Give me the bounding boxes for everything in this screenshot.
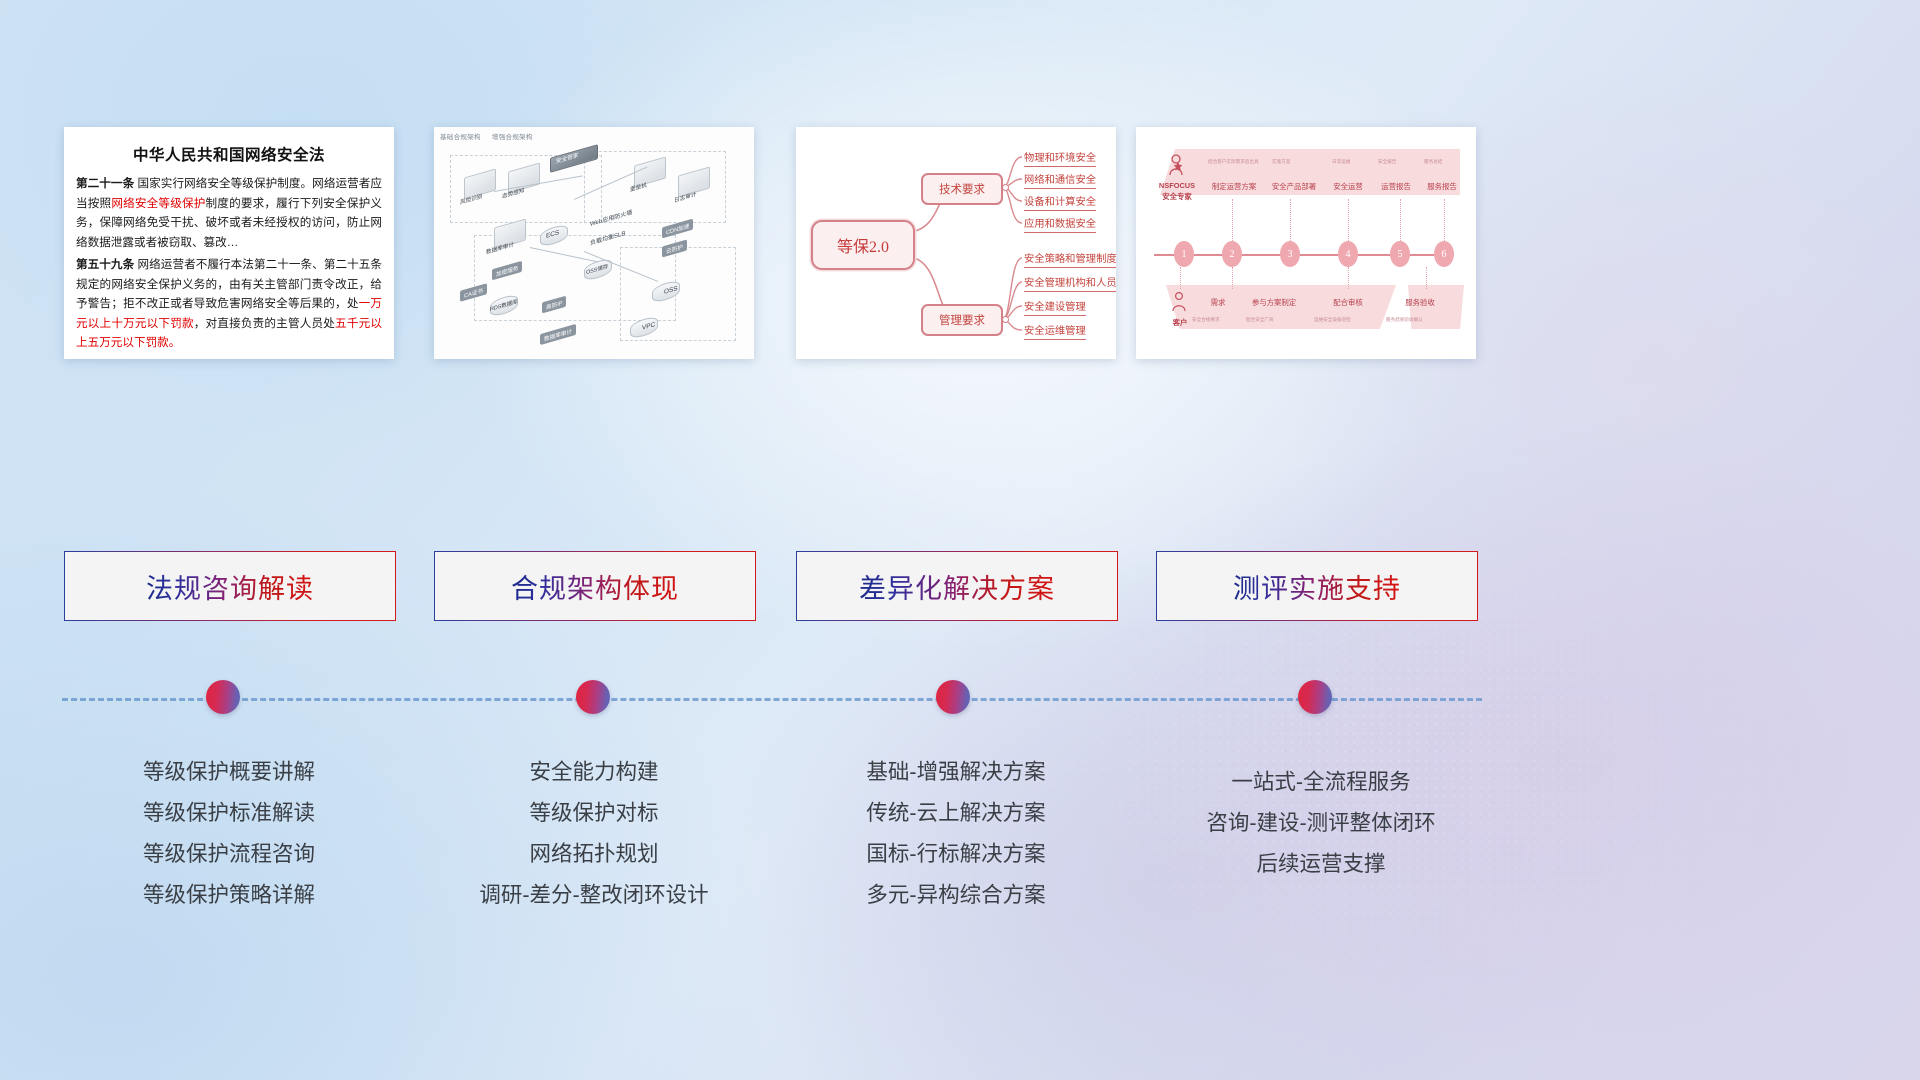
- list-item: 国标-行标解决方案: [796, 834, 1116, 875]
- nsfocus-brand-sub: 安全专家: [1156, 191, 1198, 202]
- card-cybersecurity-law: 中华人民共和国网络安全法 第二十一条 国家实行网络安全等级保护制度。网络运营者应…: [64, 127, 394, 359]
- mindmap-leaf-tech-1: 网络和通信安全: [1024, 171, 1096, 189]
- section-items-4: 一站式-全流程服务 咨询-建设-测评整体闭环 后续运营支撑: [1156, 762, 1486, 885]
- list-item: 等级保护标准解读: [64, 793, 394, 834]
- section-items-2: 安全能力构建 等级保护对标 网络拓扑规划 调研-差分-整改闭环设计: [434, 752, 754, 916]
- section-title-box-2[interactable]: 合规架构体现: [434, 551, 756, 621]
- article-59-text-b: ，对直接负责的主管人员处: [194, 317, 335, 330]
- nsfocus-tick-b4: [1348, 267, 1350, 289]
- nsfocus-tick-5: [1400, 199, 1402, 241]
- architecture-diagram: 基础合规架构 增强合规架构 安全管家 风险识别 态势感知 堡垒机 日志审计 数据…: [434, 127, 754, 359]
- list-item: 后续运营支撑: [1156, 844, 1486, 885]
- mindmap-leaf-tech-3: 应用和数据安全: [1024, 215, 1096, 233]
- list-item: 传统-云上解决方案: [796, 793, 1116, 834]
- nsfocus-tick-3: [1290, 199, 1292, 241]
- timeline-dashed-line: [62, 698, 1482, 701]
- list-item: 等级保护流程咨询: [64, 834, 394, 875]
- mindmap-leaf-tech-0: 物理和环境安全: [1024, 149, 1096, 167]
- section-title-label-4: 测评实施支持: [1233, 567, 1401, 606]
- nsfocus-tick-b6: [1426, 267, 1428, 289]
- nsfocus-tick-4: [1348, 199, 1350, 241]
- nsfocus-bottom-sub-0: 安全合规要求: [1192, 317, 1220, 323]
- section-items-3: 基础-增强解决方案 传统-云上解决方案 国标-行标解决方案 多元-异构综合方案: [796, 752, 1116, 916]
- nsfocus-top-sub-1: 实施方案: [1272, 159, 1290, 165]
- nsfocus-top-title-3: 运营报告: [1374, 181, 1418, 192]
- arch-header-basic: 基础合规架构: [440, 134, 481, 141]
- mindmap-leaf-mgmt-1: 安全管理机构和人员: [1024, 274, 1116, 292]
- card-compliance-architecture: 基础合规架构 增强合规架构 安全管家 风险识别 态势感知 堡垒机 日志审计 数据…: [434, 127, 754, 359]
- section-title-label-1: 法规咨询解读: [146, 567, 314, 606]
- nsfocus-top-sub-3: 安全报告: [1378, 159, 1396, 165]
- list-item: 安全能力构建: [434, 752, 754, 793]
- nsfocus-step-1: 1: [1174, 241, 1194, 267]
- timeline-dot-4[interactable]: [1298, 680, 1332, 714]
- law-document: 中华人民共和国网络安全法 第二十一条 国家实行网络安全等级保护制度。网络运营者应…: [64, 127, 394, 359]
- list-item: 网络拓扑规划: [434, 834, 754, 875]
- article-59-label: 第五十九条: [76, 258, 134, 271]
- section-title-box-3[interactable]: 差异化解决方案: [796, 551, 1118, 621]
- card-nsfocus-service-timeline: NSFOCUS 安全专家 结合客户实际需求后出具 制定运营方案 实施方案 安全产…: [1136, 127, 1476, 359]
- nsfocus-bottom-sub-1: 配合安全厂商: [1246, 317, 1274, 323]
- nsfocus-step-2: 2: [1222, 241, 1242, 267]
- list-item: 等级保护概要讲解: [64, 752, 394, 793]
- arch-header-enhanced: 增强合规架构: [492, 134, 533, 141]
- nsfocus-bottom-title-1: 参与方案制定: [1246, 297, 1302, 308]
- card-dengbao-mindmap: 等保2.0 技术要求 物理和环境安全 网络和通信安全 设备和计算安全 应用和数据…: [796, 127, 1116, 359]
- nsfocus-tick-b1: [1180, 267, 1182, 289]
- nsfocus-step-4: 4: [1338, 241, 1358, 267]
- law-title: 中华人民共和国网络安全法: [76, 143, 382, 165]
- nsfocus-tick-b2: [1232, 267, 1234, 289]
- section-items-1: 等级保护概要讲解 等级保护标准解读 等级保护流程咨询 等级保护策略详解: [64, 752, 394, 916]
- mindmap-leaf-mgmt-0: 安全策略和管理制度: [1024, 250, 1116, 268]
- nsfocus-bottom-sub-3: 服务结果验收确认: [1386, 317, 1423, 323]
- nsfocus-step-6: 6: [1434, 241, 1454, 267]
- section-title-label-3: 差异化解决方案: [859, 567, 1055, 606]
- expert-person-icon: [1166, 153, 1186, 177]
- timeline-dot-1[interactable]: [206, 680, 240, 714]
- nsfocus-bottom-title-0: 需求: [1198, 297, 1238, 308]
- list-item: 多元-异构综合方案: [796, 875, 1116, 916]
- mindmap: 等保2.0 技术要求 物理和环境安全 网络和通信安全 设备和计算安全 应用和数据…: [796, 127, 1116, 359]
- nsfocus-brand: NSFOCUS: [1156, 181, 1198, 190]
- nsfocus-bottom-title-2: 配合审核: [1326, 297, 1370, 308]
- nsfocus-step-3: 3: [1280, 241, 1300, 267]
- list-item: 咨询-建设-测评整体闭环: [1156, 803, 1486, 844]
- article-21-label: 第二十一条: [76, 177, 134, 190]
- list-item: 一站式-全流程服务: [1156, 762, 1486, 803]
- mindmap-root: 等保2.0: [811, 220, 915, 270]
- law-article-21: 第二十一条 国家实行网络安全等级保护制度。网络运营者应当按照网络安全等级保护制度…: [76, 174, 382, 252]
- nsfocus-bottom-sub-2: 运维安全设备巡检: [1314, 317, 1351, 323]
- nsfocus-step-5: 5: [1390, 241, 1410, 267]
- mindmap-leaf-tech-2: 设备和计算安全: [1024, 193, 1096, 211]
- mindmap-leaf-mgmt-2: 安全建设管理: [1024, 298, 1086, 316]
- architecture-header: 基础合规架构 增强合规架构: [440, 131, 542, 141]
- section-title-box-1[interactable]: 法规咨询解读: [64, 551, 396, 621]
- nsfocus-timeline: NSFOCUS 安全专家 结合客户实际需求后出具 制定运营方案 实施方案 安全产…: [1136, 127, 1476, 359]
- article-21-highlight: 网络安全等级保护: [111, 197, 205, 210]
- law-article-59: 第五十九条 网络运营者不履行本法第二十一条、第二十五条规定的网络安全保护义务的，…: [76, 255, 382, 353]
- nsfocus-bottom-title-3: 服务验收: [1398, 297, 1442, 308]
- nsfocus-top-sub-4: 服务总结: [1424, 159, 1442, 165]
- nsfocus-tick-6: [1444, 199, 1446, 241]
- timeline-dot-2[interactable]: [576, 680, 610, 714]
- mindmap-dot-technical: [1002, 184, 1009, 191]
- nsfocus-top-title-2: 安全运营: [1326, 181, 1370, 192]
- list-item: 调研-差分-整改闭环设计: [434, 875, 754, 916]
- list-item: 等级保护对标: [434, 793, 754, 834]
- nsfocus-top-sub-2: 日常运维: [1332, 159, 1350, 165]
- section-title-box-4[interactable]: 测评实施支持: [1156, 551, 1478, 621]
- mindmap-leaf-mgmt-3: 安全运维管理: [1024, 322, 1086, 340]
- mindmap-branch-technical: 技术要求: [921, 173, 1003, 205]
- mindmap-dot-management: [1002, 316, 1009, 323]
- timeline-dot-3[interactable]: [936, 680, 970, 714]
- nsfocus-tick-2: [1232, 199, 1234, 241]
- nsfocus-top-sub-0: 结合客户实际需求后出具: [1208, 159, 1259, 165]
- list-item: 等级保护策略详解: [64, 875, 394, 916]
- nsfocus-top-title-1: 安全产品部署: [1266, 181, 1322, 192]
- customer-person-icon: [1170, 291, 1188, 313]
- slide-stage: 中华人民共和国网络安全法 第二十一条 国家实行网络安全等级保护制度。网络运营者应…: [0, 0, 1920, 1080]
- nsfocus-top-title-0: 制定运营方案: [1208, 181, 1260, 192]
- arch-chip-dbaudit2: 数据库审计: [540, 324, 576, 345]
- nsfocus-top-title-4: 服务报告: [1420, 181, 1464, 192]
- mindmap-branch-management: 管理要求: [921, 304, 1003, 336]
- section-title-label-2: 合规架构体现: [511, 567, 679, 606]
- list-item: 基础-增强解决方案: [796, 752, 1116, 793]
